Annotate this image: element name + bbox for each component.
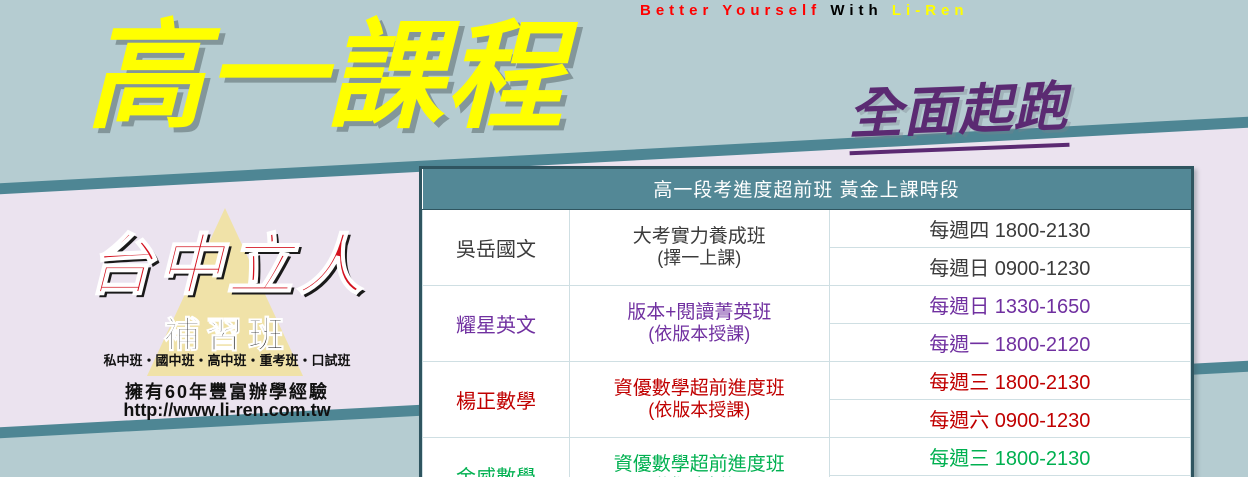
course-name: 資優數學超前進度班	[614, 454, 785, 475]
schedule-table-container: 高一段考進度超前班 黃金上課時段 吳岳國文大考實力養成班(擇一上課)每週四 18…	[419, 166, 1194, 477]
course-note: (依版本授課)	[572, 324, 827, 345]
tagline: Better Yourself With Li-Ren	[640, 2, 969, 19]
teacher-cell: 吳岳國文	[423, 210, 570, 286]
course-note: (擇一上課)	[572, 248, 827, 269]
table-row: 楊正數學資優數學超前進度班(依版本授課)每週三 1800-2130	[423, 362, 1191, 400]
class-time-cell: 每週一 1800-2120	[829, 324, 1190, 362]
class-time-cell: 每週四 1800-2130	[829, 210, 1190, 248]
table-row: 金威數學資優數學超前進度班(依版本授課)每週三 1800-2130	[423, 438, 1191, 476]
logo-class-list: 私中班・國中班・高中班・重考班・口試班	[52, 350, 402, 369]
course-cell: 大考實力養成班(擇一上課)	[569, 210, 829, 286]
course-cell: 版本+閱讀菁英班(依版本授課)	[569, 286, 829, 362]
tagline-word-with: With	[830, 2, 882, 19]
logo-website-url[interactable]: http://www.li-ren.com.tw	[52, 400, 402, 421]
schedule-table: 高一段考進度超前班 黃金上課時段 吳岳國文大考實力養成班(擇一上課)每週四 18…	[422, 169, 1191, 477]
tagline-word-liren: Li-Ren	[892, 2, 969, 19]
table-row: 吳岳國文大考實力養成班(擇一上課)每週四 1800-2130	[423, 210, 1191, 248]
schedule-table-body: 吳岳國文大考實力養成班(擇一上課)每週四 1800-2130每週日 0900-1…	[423, 210, 1191, 477]
tagline-word-better: Better	[640, 2, 713, 19]
table-header-row: 高一段考進度超前班 黃金上課時段	[423, 169, 1191, 210]
school-logo: 台中立人 補習班 私中班・國中班・高中班・重考班・口試班 擁有60年豐富辦學經驗…	[52, 210, 402, 410]
tagline-word-yourself: Yourself	[722, 2, 821, 19]
class-time-cell: 每週三 1800-2130	[829, 438, 1190, 476]
page-subtitle: 全面起跑	[846, 62, 1069, 155]
course-note: (依版本授課)	[572, 400, 827, 421]
course-name: 版本+閱讀菁英班	[627, 302, 771, 323]
logo-brand-name: 台中立人	[52, 212, 402, 308]
course-name: 資優數學超前進度班	[614, 378, 785, 399]
course-cell: 資優數學超前進度班(依版本授課)	[569, 362, 829, 438]
schedule-header-title: 高一段考進度超前班 黃金上課時段	[423, 169, 1191, 210]
teacher-cell: 金威數學	[423, 438, 570, 477]
table-row: 耀星英文版本+閱讀菁英班(依版本授課)每週日 1330-1650	[423, 286, 1191, 324]
poster-canvas: Better Yourself With Li-Ren 高一課程 全面起跑 台中…	[0, 0, 1248, 477]
course-name: 大考實力養成班	[633, 226, 766, 247]
page-title: 高一課程	[86, 6, 566, 145]
teacher-cell: 楊正數學	[423, 362, 570, 438]
course-cell: 資優數學超前進度班(依版本授課)	[569, 438, 829, 477]
teacher-cell: 耀星英文	[423, 286, 570, 362]
class-time-cell: 每週六 0900-1230	[829, 400, 1190, 438]
class-time-cell: 每週日 0900-1230	[829, 248, 1190, 286]
class-time-cell: 每週日 1330-1650	[829, 286, 1190, 324]
class-time-cell: 每週三 1800-2130	[829, 362, 1190, 400]
